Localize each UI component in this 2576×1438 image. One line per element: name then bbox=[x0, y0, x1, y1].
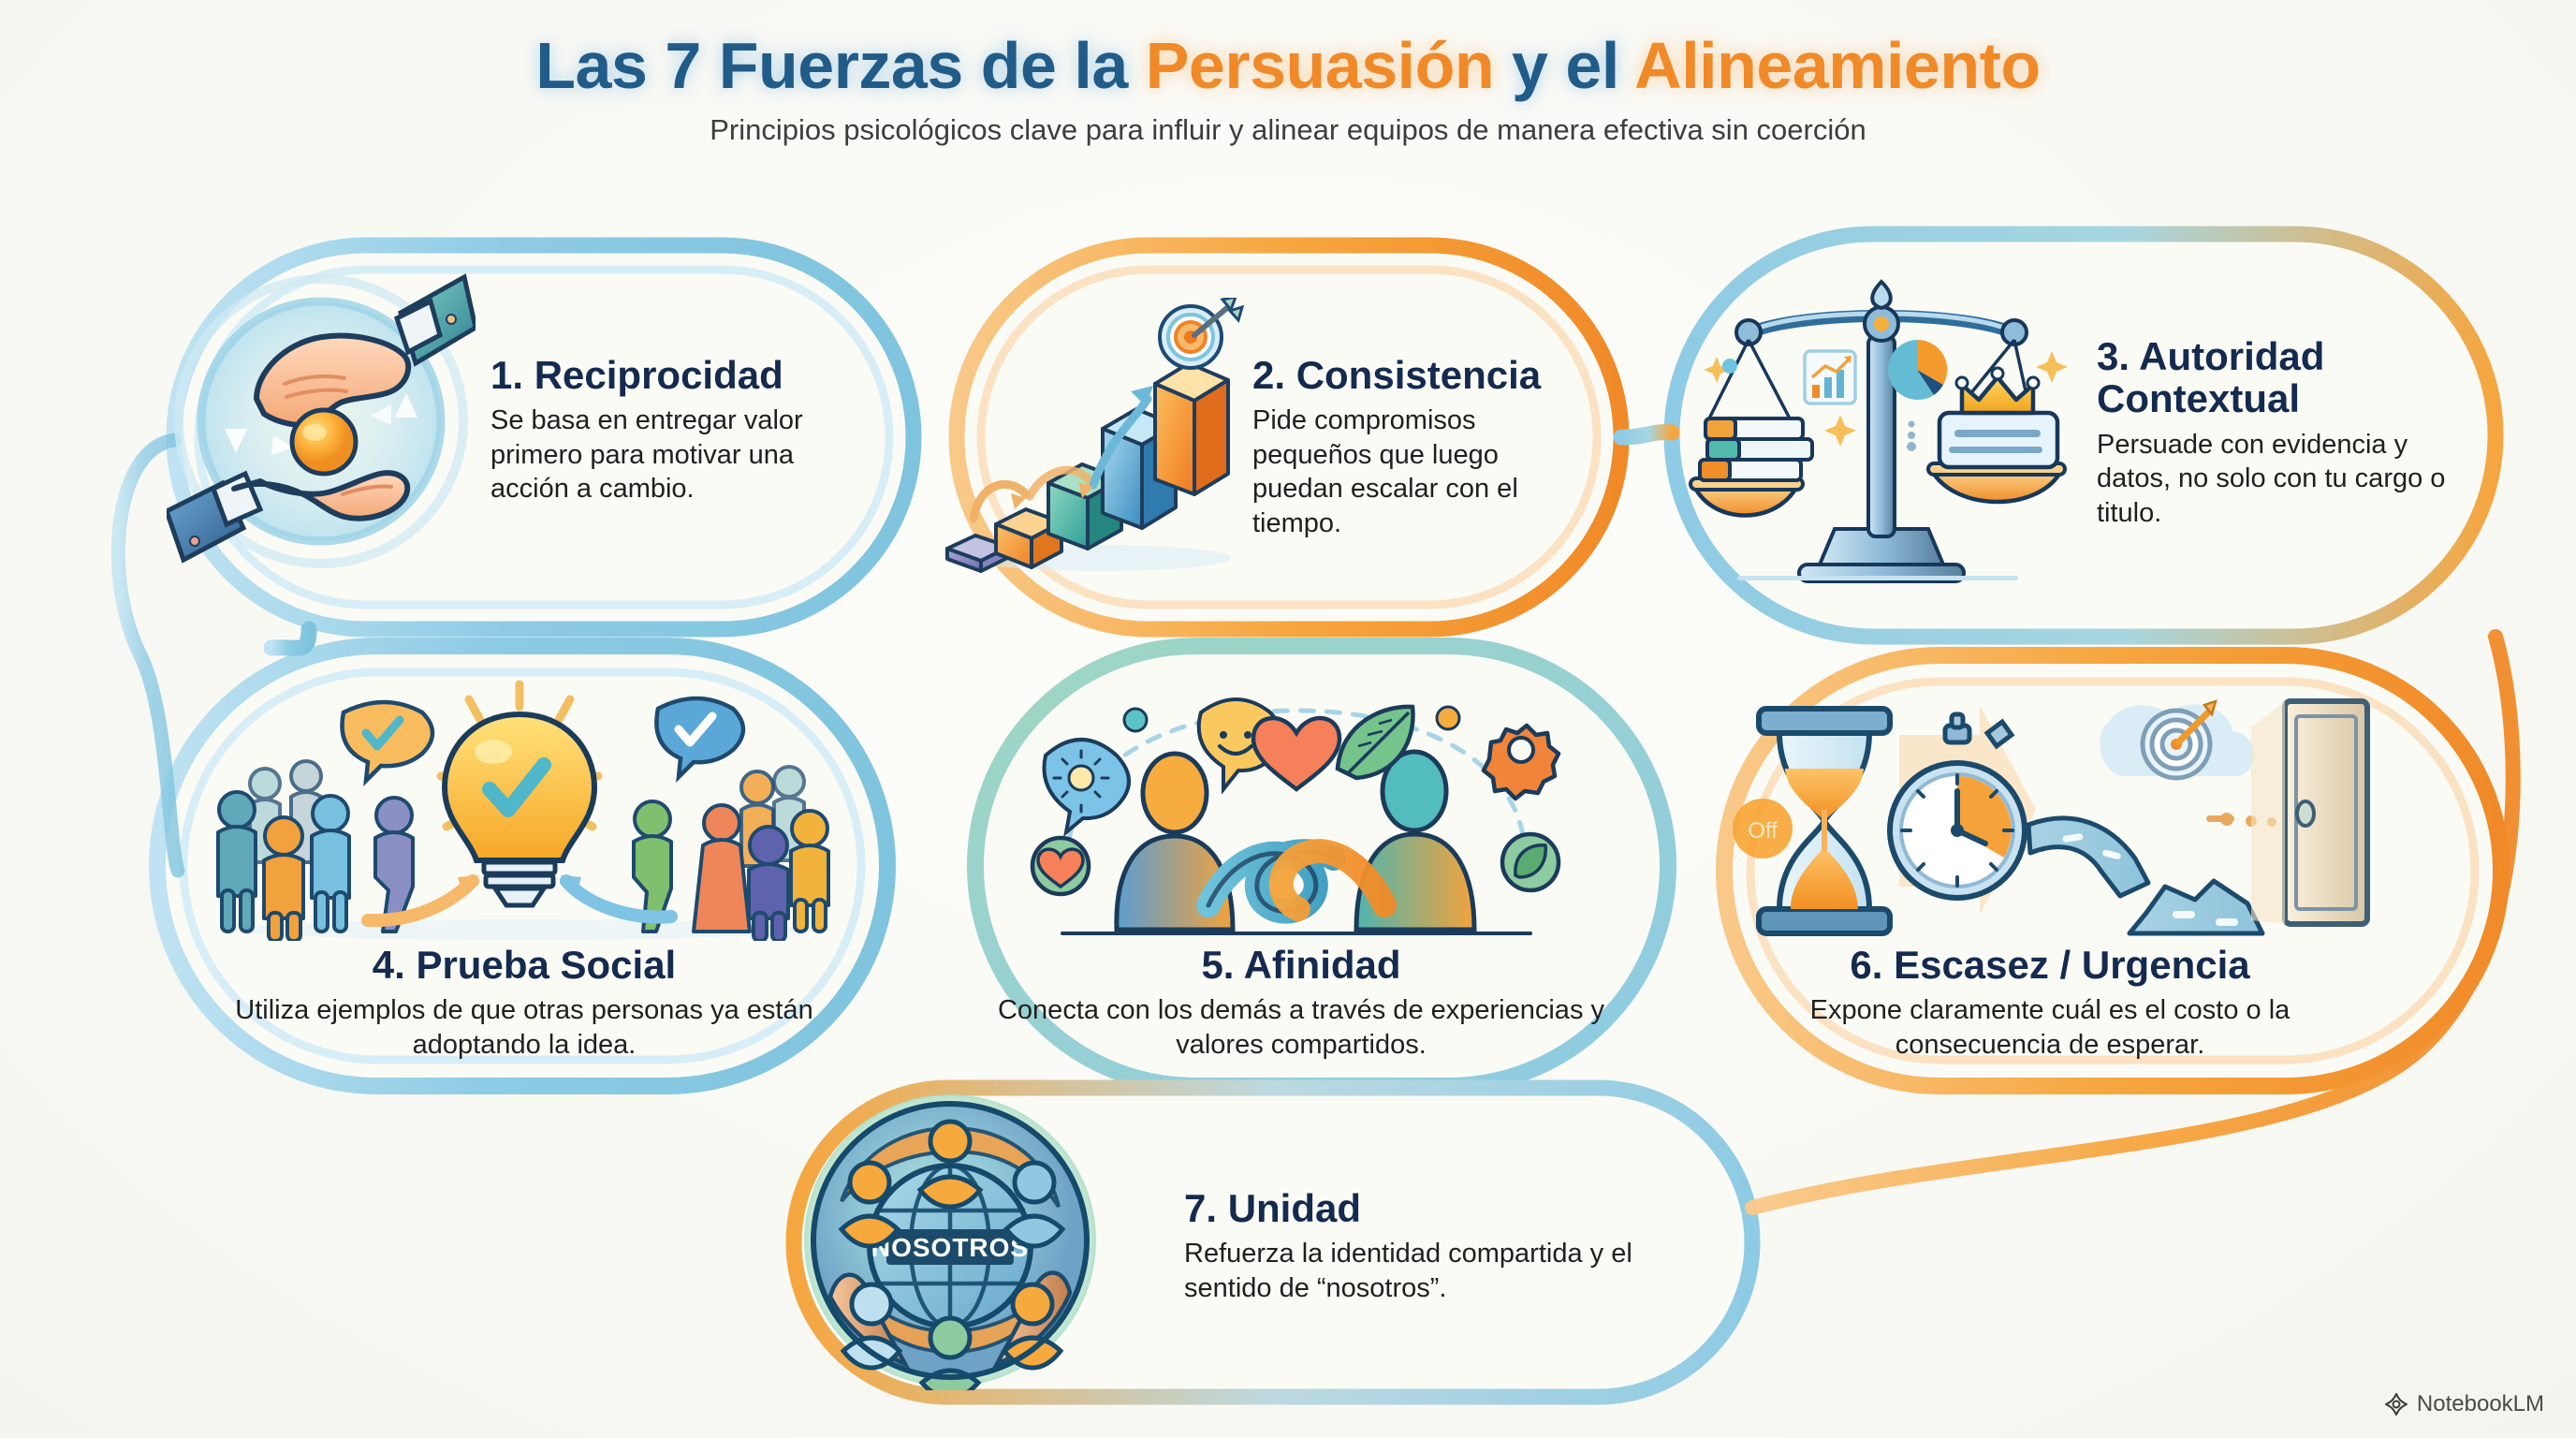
card-title-7: 7. Unidad bbox=[1184, 1187, 1671, 1229]
title-segment-orange-2: Alineamiento bbox=[1634, 29, 2041, 102]
title-segment-blue-1: Las 7 Fuerzas de la bbox=[535, 29, 1145, 102]
card-unity: 7. Unidad Refuerza la identidad comparti… bbox=[1184, 1187, 1671, 1305]
check-bubble-blue bbox=[656, 698, 743, 777]
scarcity-badge-label: Off bbox=[1748, 818, 1778, 844]
card-desc-3: Persuade con evidencia y datos, no solo … bbox=[2097, 428, 2452, 531]
infographic-canvas: Las 7 Fuerzas de la Persuasión y el Alin… bbox=[0, 0, 2576, 1438]
heart-circle-icon bbox=[1032, 838, 1089, 894]
unity-globe-label: NOSOTROS bbox=[871, 1233, 1029, 1262]
crowd-lightbulb-check-icon bbox=[192, 679, 847, 941]
illustration-consistency bbox=[936, 298, 1250, 579]
title-segment-orange-1: Persuasión bbox=[1146, 29, 1494, 102]
heart-icon bbox=[1253, 718, 1339, 789]
globe-people-circle-icon: NOSOTROS bbox=[800, 1091, 1100, 1390]
header: Las 7 Fuerzas de la Persuasión y el Alin… bbox=[0, 32, 2576, 147]
illustration-social-proof bbox=[192, 679, 847, 941]
hands-exchanging-coin-icon bbox=[167, 260, 476, 583]
page-subtitle: Principios psicológicos clave para influ… bbox=[0, 113, 2576, 147]
card-desc-5: Conecta con los demás a través de experi… bbox=[973, 993, 1629, 1062]
illustration-reciprocity bbox=[167, 260, 476, 583]
card-title-5: 5. Afinidad bbox=[973, 944, 1629, 986]
card-title-4: 4. Prueba Social bbox=[197, 944, 852, 986]
sun-bubble-icon bbox=[1044, 740, 1129, 832]
card-social-proof: 4. Prueba Social Utiliza ejemplos de que… bbox=[197, 944, 852, 1062]
illustration-authority bbox=[1685, 276, 2078, 594]
card-desc-2: Pide compromisos pequeños que luego pued… bbox=[1252, 404, 1589, 540]
card-desc-1: Se basa en entregar valor primero para m… bbox=[490, 404, 865, 506]
leaf-circle-icon bbox=[1502, 834, 1559, 890]
ascending-bars-target-icon bbox=[936, 298, 1250, 579]
watermark-label: NotebookLM bbox=[2417, 1391, 2544, 1417]
card-scarcity: 6. Escasez / Urgencia Expone claramente … bbox=[1732, 944, 2368, 1062]
hourglass-stopwatch-closing-door-icon: Off bbox=[1727, 688, 2382, 941]
card-title-1: 1. Reciprocidad bbox=[490, 354, 865, 396]
balance-scales-books-crown-icon bbox=[1685, 276, 2078, 594]
card-affinity: 5. Afinidad Conecta con los demás a trav… bbox=[973, 944, 1629, 1062]
card-title-2: 2. Consistencia bbox=[1252, 354, 1589, 396]
two-people-linked-arms-icon bbox=[1025, 688, 1568, 936]
card-authority: 3. Autoridad Contextual Persuade con evi… bbox=[2097, 335, 2452, 530]
page-title: Las 7 Fuerzas de la Persuasión y el Alin… bbox=[0, 32, 2576, 100]
card-desc-7: Refuerza la identidad compartida y el se… bbox=[1184, 1237, 1671, 1305]
card-title-6: 6. Escasez / Urgencia bbox=[1732, 944, 2368, 986]
check-bubble-orange bbox=[342, 702, 432, 781]
card-desc-6: Expone claramente cuál es el costo o la … bbox=[1732, 993, 2368, 1062]
card-consistency: 2. Consistencia Pide compromisos pequeño… bbox=[1252, 354, 1589, 540]
illustration-scarcity: Off bbox=[1727, 688, 2382, 941]
gear-icon bbox=[1484, 726, 1559, 799]
watermark: NotebookLM bbox=[2384, 1391, 2544, 1417]
card-desc-4: Utiliza ejemplos de que otras personas y… bbox=[197, 993, 852, 1062]
illustration-affinity bbox=[1025, 688, 1568, 936]
notebooklm-spark-icon bbox=[2384, 1392, 2408, 1416]
card-title-3: 3. Autoridad Contextual bbox=[2097, 335, 2452, 420]
card-reciprocity: 1. Reciprocidad Se basa en entregar valo… bbox=[490, 354, 865, 506]
illustration-unity: NOSOTROS bbox=[800, 1091, 1100, 1390]
title-segment-blue-2: y el bbox=[1494, 29, 1634, 102]
